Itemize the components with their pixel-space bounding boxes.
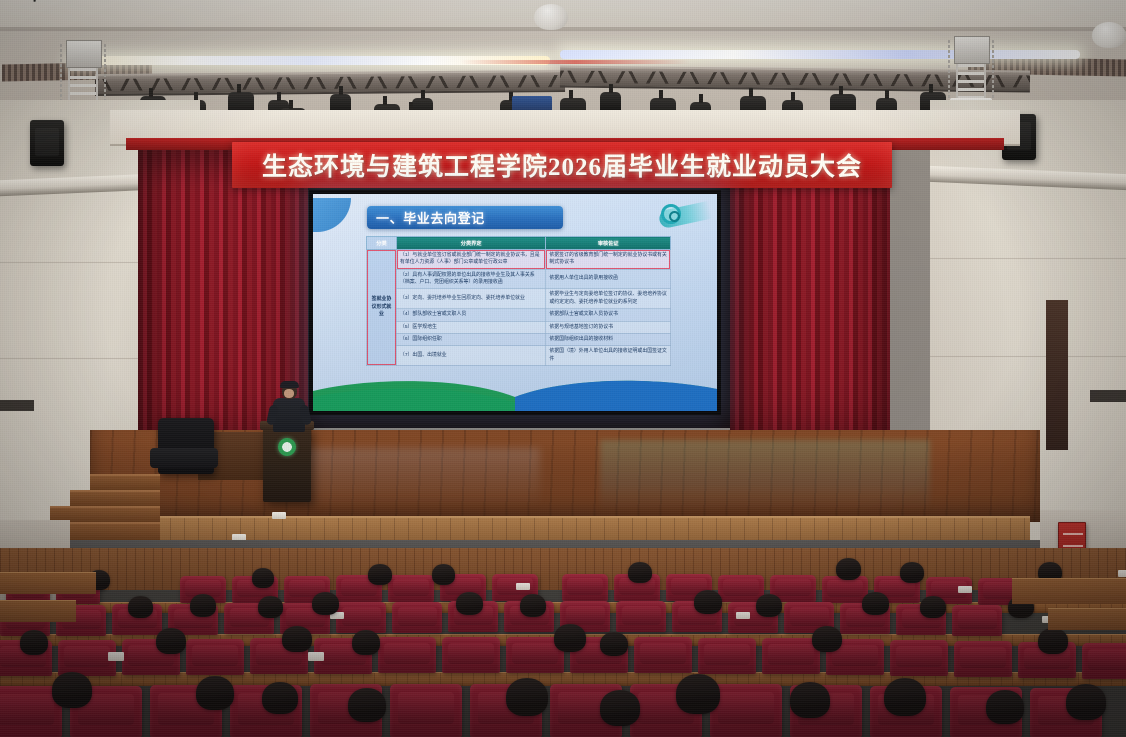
wall-vent-right [1090,390,1126,402]
projector-lift-scissor [68,68,98,102]
comet-ring-icon [661,204,681,224]
audience-head [368,564,392,585]
presenter-face [284,389,294,398]
audience-head [628,562,652,583]
dome-camera-right [1092,22,1126,48]
audience-head [836,558,861,580]
wall-speaker-left [30,120,64,166]
table-row: （5）医学规培生 依据与规培基地签订的协议书 [367,321,671,333]
seat[interactable] [890,640,948,676]
wall-panel-seam [930,258,1126,259]
seat[interactable] [388,575,434,602]
audience-head [694,590,722,614]
audience-head [790,682,830,718]
slide-content: 一、毕业去向登记 分类 分类界定 审核佐证 签就业协议形式就业 （1）与就业单位… [313,194,717,411]
audience-head [52,672,92,708]
audience-head [812,626,842,652]
slide-comet-decoration-icon [657,202,711,228]
definition-cell: （5）医学规培生 [396,321,545,333]
paper-on-desk [736,612,750,619]
audience-head [258,596,283,618]
definition-cell: （2）具有人事调配权限的单位出具的接收毕业生及其人事关系（档案、户口、党团组织关… [396,269,545,289]
column-header-definition: 分类界定 [396,237,545,250]
seat[interactable] [186,639,244,675]
presenter [272,383,306,431]
audience-head [520,594,546,617]
slide-table-header-row: 分类 分类界定 审核佐证 [367,237,671,250]
evidence-cell: 依据与规培基地签订的协议书 [546,321,671,333]
seat[interactable] [378,637,436,673]
seat[interactable] [952,605,1002,636]
stage-floor-reflection [600,440,930,512]
stage-step [70,490,160,506]
side-desk-left [0,572,96,594]
stage-floor-reflection-2 [300,448,540,508]
dome-camera-center [534,4,568,30]
seat[interactable] [390,684,462,737]
seat[interactable] [954,641,1012,677]
audience-head [600,690,640,726]
audience-head [756,594,782,617]
audience-head [262,682,298,714]
audience-head [252,568,274,588]
evidence-cell: 依据国（境）外用人单位出具的接收证明或出国签证文件 [546,346,671,366]
fire-cabinet-label-line [1063,533,1083,535]
audience-head [432,564,455,585]
audience-head [986,690,1024,724]
wall-panel-seam [930,356,1126,357]
audience-head [190,594,216,617]
slide-table: 分类 分类界定 审核佐证 签就业协议形式就业 （1）与就业单位签订省或就业部门统… [366,236,671,366]
cove-light-red-tint [460,60,690,64]
audience-head [600,632,628,656]
evidence-cell: 依据部队士官或文职人员协议书 [546,309,671,321]
event-banner: 生态环境与建筑工程学院2026届毕业生就业动员大会 [232,142,892,188]
audience-head [128,596,153,618]
audience-head [352,630,380,655]
seat[interactable] [634,637,692,673]
seat[interactable] [698,638,756,674]
audience-head [884,678,926,716]
audience-head [20,630,48,655]
table-row: （3）定向、委托培养毕业生回原定向、委托培养单位就业 依据毕业生与定向委培单位签… [367,289,671,309]
ceiling-edge [0,27,1126,31]
audience-head [312,592,339,615]
projection-screen: 一、毕业去向登记 分类 分类界定 审核佐证 签就业协议形式就业 （1）与就业单位… [309,190,721,415]
wall-vent-left [0,400,34,411]
slide-wave-footer-graphic [313,375,717,411]
event-banner-text: 生态环境与建筑工程学院2026届毕业生就业动员大会 [262,147,862,183]
definition-cell: （6）国际组织任职 [396,333,545,345]
definition-cell: （7）出国、出境就业 [396,346,545,366]
evidence-cell: 依据用人单位出具的录用接收函 [546,269,671,289]
projector-lift-body [954,36,990,64]
audience-head [196,676,234,710]
seat[interactable] [616,601,666,632]
table-row: （7）出国、出境就业 依据国（境）外用人单位出具的接收证明或出国签证文件 [367,346,671,366]
seat[interactable] [1082,643,1126,679]
seat[interactable] [710,684,782,737]
category-cell: 签就业协议形式就业 [367,250,397,366]
definition-cell: （4）部队部收士官或文职人员 [396,309,545,321]
paper-on-desk [308,652,324,661]
audience-head [554,624,586,652]
slide-table-body: 签就业协议形式就业 （1）与就业单位签订省或就业部门统一制定的就业协议书，且是有… [367,250,671,366]
audience-head [1038,628,1068,654]
paper-on-stage [272,512,286,519]
audience-head [156,628,186,654]
podium [263,426,311,502]
seat[interactable] [392,602,442,633]
definition-cell: （1）与就业单位签订省或就业部门统一制定的就业协议书，且是有单位人力资源（人事）… [396,250,545,270]
side-desk-right-lower [1048,608,1126,630]
seat[interactable] [822,576,868,603]
table-row: （2）具有人事调配权限的单位出具的接收毕业生及其人事关系（档案、户口、党团组织关… [367,269,671,289]
paper-on-desk [1118,570,1126,577]
lift-chain [992,40,994,108]
table-row: （4）部队部收士官或文职人员 依据部队士官或文职人员协议书 [367,309,671,321]
auditorium-scene: 生态环境与建筑工程学院2026届毕业生就业动员大会 一、毕业去向登记 分类 分类… [0,0,1126,737]
wall-trim-right [1046,300,1068,450]
evidence-cell: 依据毕业生与定向委培单位签订的协议、委培培养协议或约定定向、委托培养单位就业的系… [546,289,671,309]
side-desk-left-lower [0,600,76,622]
paper-on-desk [958,586,972,593]
stage-step [90,474,160,490]
definition-cell: （3）定向、委托培养毕业生回原定向、委托培养单位就业 [396,289,545,309]
audience-head [900,562,924,583]
audience-head [506,678,548,716]
audience-head [920,596,946,618]
audience-head [862,592,889,615]
seat[interactable] [562,574,608,601]
slide-title-text: 一、毕业去向登记 [367,208,485,227]
slide-circle-decoration-icon [313,198,351,232]
audience-head [348,688,386,722]
cove-light-right [560,50,1080,59]
seat[interactable] [442,637,500,673]
projector-lift-scissor [956,64,986,98]
audience-head [676,674,720,714]
audience-head [1066,684,1106,720]
table-row: 签就业协议形式就业 （1）与就业单位签订省或就业部门统一制定的就业协议书，且是有… [367,250,671,270]
paper-on-desk [108,652,124,661]
lighting-truss-left [95,70,565,96]
audience-head [456,592,483,615]
school-emblem-icon [278,438,296,456]
paper-on-desk [516,583,530,590]
column-header-category: 分类 [367,237,397,250]
slide-title-banner: 一、毕业去向登记 [367,206,563,229]
side-desk-right [1012,578,1126,604]
evidence-cell: 依据国际组织出具的接收材料 [546,333,671,345]
audience-head [282,626,312,652]
presenter-cap [280,381,299,388]
table-row: （6）国际组织任职 依据国际组织出具的接收材料 [367,333,671,345]
fire-cabinet-label-line [1063,545,1083,547]
projector-lift-body [66,40,102,68]
evidence-cell: 依据签订的省级教育部门统一制定的就业协议书或有关制式协议书 [546,250,671,270]
stage-armchair [158,418,214,474]
column-header-evidence: 审核佐证 [546,237,671,250]
